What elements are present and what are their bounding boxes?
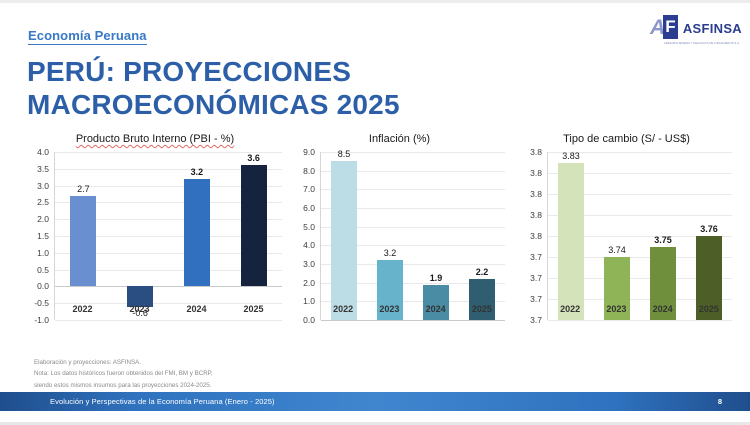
y-tick-label: 3.7 xyxy=(530,294,542,304)
y-tick-label: 1.5 xyxy=(37,231,49,241)
page-title: PERÚ: PROYECCIONES MACROECONÓMICAS 2025 xyxy=(27,55,587,121)
slide-kicker: Economía Peruana xyxy=(28,28,147,45)
bar[interactable] xyxy=(241,165,267,286)
y-axis-inflacion: 9.08.07.06.05.04.03.02.01.00.0 xyxy=(292,152,318,320)
bar-slot: 3.2 xyxy=(367,152,413,320)
x-tick-label: 2023 xyxy=(111,304,168,314)
y-tick-label: 3.7 xyxy=(530,252,542,262)
bar-value-label: 3.83 xyxy=(562,151,580,161)
y-tick-label: 3.8 xyxy=(530,189,542,199)
y-axis-tipo-cambio: 3.83.83.83.83.83.73.73.73.7 xyxy=(519,152,545,320)
top-rule xyxy=(0,0,750,3)
bar-value-label: 3.75 xyxy=(654,235,672,245)
gridline xyxy=(55,320,282,321)
y-tick-label: 3.0 xyxy=(37,181,49,191)
x-tick-label: 2023 xyxy=(593,304,639,314)
y-tick-label: 6.0 xyxy=(303,203,315,213)
x-tick-label: 2025 xyxy=(686,304,732,314)
bar[interactable] xyxy=(184,179,210,287)
gridline xyxy=(321,320,505,321)
bar-value-label: 3.74 xyxy=(608,245,626,255)
slide: Economía Peruana PERÚ: PROYECCIONES MACR… xyxy=(0,0,750,425)
y-tick-label: -1.0 xyxy=(34,315,49,325)
chart-title-tipo-cambio: Tipo de cambio (S/ - US$) xyxy=(519,132,734,148)
logo-mark-icon: A F xyxy=(650,14,682,42)
source-note-line-1: Elaboración y proyecciones: ASFINSA. xyxy=(34,357,314,368)
x-axis-inflacion: 2022202320242025 xyxy=(320,304,505,314)
bar-value-label: 3.2 xyxy=(191,167,204,177)
y-tick-label: 3.8 xyxy=(530,231,542,241)
y-tick-label: 0.5 xyxy=(37,265,49,275)
source-note-line-2: Nota: Los datos históricos fueron obteni… xyxy=(34,368,314,379)
bar-value-label: 3.2 xyxy=(384,248,397,258)
y-tick-label: 3.5 xyxy=(37,164,49,174)
x-tick-label: 2022 xyxy=(547,304,593,314)
y-tick-label: 0.0 xyxy=(37,281,49,291)
y-tick-label: 2.5 xyxy=(37,197,49,207)
y-tick-label: 7.0 xyxy=(303,184,315,194)
y-axis-pbi: 4.03.53.02.52.01.51.00.50.0-0.5-1.0 xyxy=(26,152,52,320)
x-tick-label: 2022 xyxy=(320,304,366,314)
charts-row: Producto Bruto Interno (PBI - %) 4.03.53… xyxy=(0,132,750,362)
x-tick-label: 2024 xyxy=(413,304,459,314)
y-tick-label: 2.0 xyxy=(303,278,315,288)
y-tick-label: 4.0 xyxy=(37,147,49,157)
bar[interactable] xyxy=(558,163,584,321)
x-tick-label: 2025 xyxy=(459,304,505,314)
y-tick-label: -0.5 xyxy=(34,298,49,308)
bars-tipo-cambio: 3.833.743.753.76 xyxy=(548,152,732,320)
bar-slot: 3.83 xyxy=(548,152,594,320)
grid-pbi: 2.7-0.63.23.6 xyxy=(54,152,282,320)
plot-tipo-cambio: 3.83.83.83.83.83.73.73.73.7 3.833.743.75… xyxy=(519,152,734,320)
bar[interactable] xyxy=(331,161,357,320)
source-note: Elaboración y proyecciones: ASFINSA. Not… xyxy=(34,357,314,391)
bar-slot: 3.2 xyxy=(169,152,226,320)
bar-value-label: 8.5 xyxy=(338,149,351,159)
bars-pbi: 2.7-0.63.23.6 xyxy=(55,152,282,320)
bar-slot: 1.9 xyxy=(413,152,459,320)
x-tick-label: 2022 xyxy=(54,304,111,314)
bar-value-label: 1.9 xyxy=(430,273,443,283)
asfinsa-logo: A F ASFINSA ASESORIA MINERA Y NEGOCIOS D… xyxy=(650,10,742,46)
plot-pbi: 4.03.53.02.52.01.51.00.50.0-0.5-1.0 2.7-… xyxy=(26,152,284,320)
chart-panel-inflacion: Inflación (%) 9.08.07.06.05.04.03.02.01.… xyxy=(292,132,507,362)
y-tick-label: 0.0 xyxy=(303,315,315,325)
bar-value-label: 3.76 xyxy=(700,224,718,234)
plot-inflacion: 9.08.07.06.05.04.03.02.01.00.0 8.53.21.9… xyxy=(292,152,507,320)
bar-value-label: 2.2 xyxy=(476,267,489,277)
logo-letter-f: F xyxy=(663,15,678,39)
y-tick-label: 3.7 xyxy=(530,273,542,283)
y-tick-label: 8.0 xyxy=(303,166,315,176)
chart-title-pbi: Producto Bruto Interno (PBI - %) xyxy=(26,132,284,148)
chart-panel-tipo-cambio: Tipo de cambio (S/ - US$) 3.83.83.83.83.… xyxy=(519,132,734,362)
footer-title: Evolución y Perspectivas de la Economía … xyxy=(50,397,275,406)
y-tick-label: 1.0 xyxy=(303,296,315,306)
bar-slot: -0.6 xyxy=(112,152,169,320)
y-tick-label: 3.8 xyxy=(530,168,542,178)
grid-tipo-cambio: 3.833.743.753.76 xyxy=(547,152,732,320)
y-tick-label: 2.0 xyxy=(37,214,49,224)
bar-value-label: 3.6 xyxy=(247,153,260,163)
x-tick-label: 2025 xyxy=(225,304,282,314)
bar-slot: 3.74 xyxy=(594,152,640,320)
chart-title-inflacion: Inflación (%) xyxy=(292,132,507,148)
y-tick-label: 3.8 xyxy=(530,210,542,220)
slide-footer: Evolución y Perspectivas de la Economía … xyxy=(0,392,750,411)
x-tick-label: 2023 xyxy=(366,304,412,314)
bar-slot: 3.76 xyxy=(686,152,732,320)
bar-slot: 2.7 xyxy=(55,152,112,320)
chart-panel-pbi: Producto Bruto Interno (PBI - %) 4.03.53… xyxy=(26,132,284,362)
x-axis-tipo-cambio: 2022202320242025 xyxy=(547,304,732,314)
gridline xyxy=(548,320,732,321)
bar-slot: 2.2 xyxy=(459,152,505,320)
source-note-line-3: siendo estos mismos insumos para las pro… xyxy=(34,380,314,391)
bar-slot: 3.75 xyxy=(640,152,686,320)
grid-inflacion: 8.53.21.92.2 xyxy=(320,152,505,320)
x-tick-label: 2024 xyxy=(640,304,686,314)
y-tick-label: 3.8 xyxy=(530,147,542,157)
y-tick-label: 5.0 xyxy=(303,222,315,232)
footer-page-number: 8 xyxy=(718,397,722,406)
y-tick-label: 1.0 xyxy=(37,248,49,258)
y-tick-label: 4.0 xyxy=(303,240,315,250)
x-axis-pbi: 2022202320242025 xyxy=(54,304,282,314)
bar-value-label: 2.7 xyxy=(77,184,90,194)
y-tick-label: 3.7 xyxy=(530,315,542,325)
bar-slot: 3.6 xyxy=(225,152,282,320)
x-tick-label: 2024 xyxy=(168,304,225,314)
logo-wordmark: ASFINSA xyxy=(683,22,742,35)
logo-tagline: ASESORIA MINERA Y NEGOCIOS DE FINANCIERO… xyxy=(664,42,740,45)
bar[interactable] xyxy=(70,196,96,287)
bar[interactable] xyxy=(423,285,449,320)
bars-inflacion: 8.53.21.92.2 xyxy=(321,152,505,320)
bar-slot: 8.5 xyxy=(321,152,367,320)
y-tick-label: 9.0 xyxy=(303,147,315,157)
y-tick-label: 3.0 xyxy=(303,259,315,269)
